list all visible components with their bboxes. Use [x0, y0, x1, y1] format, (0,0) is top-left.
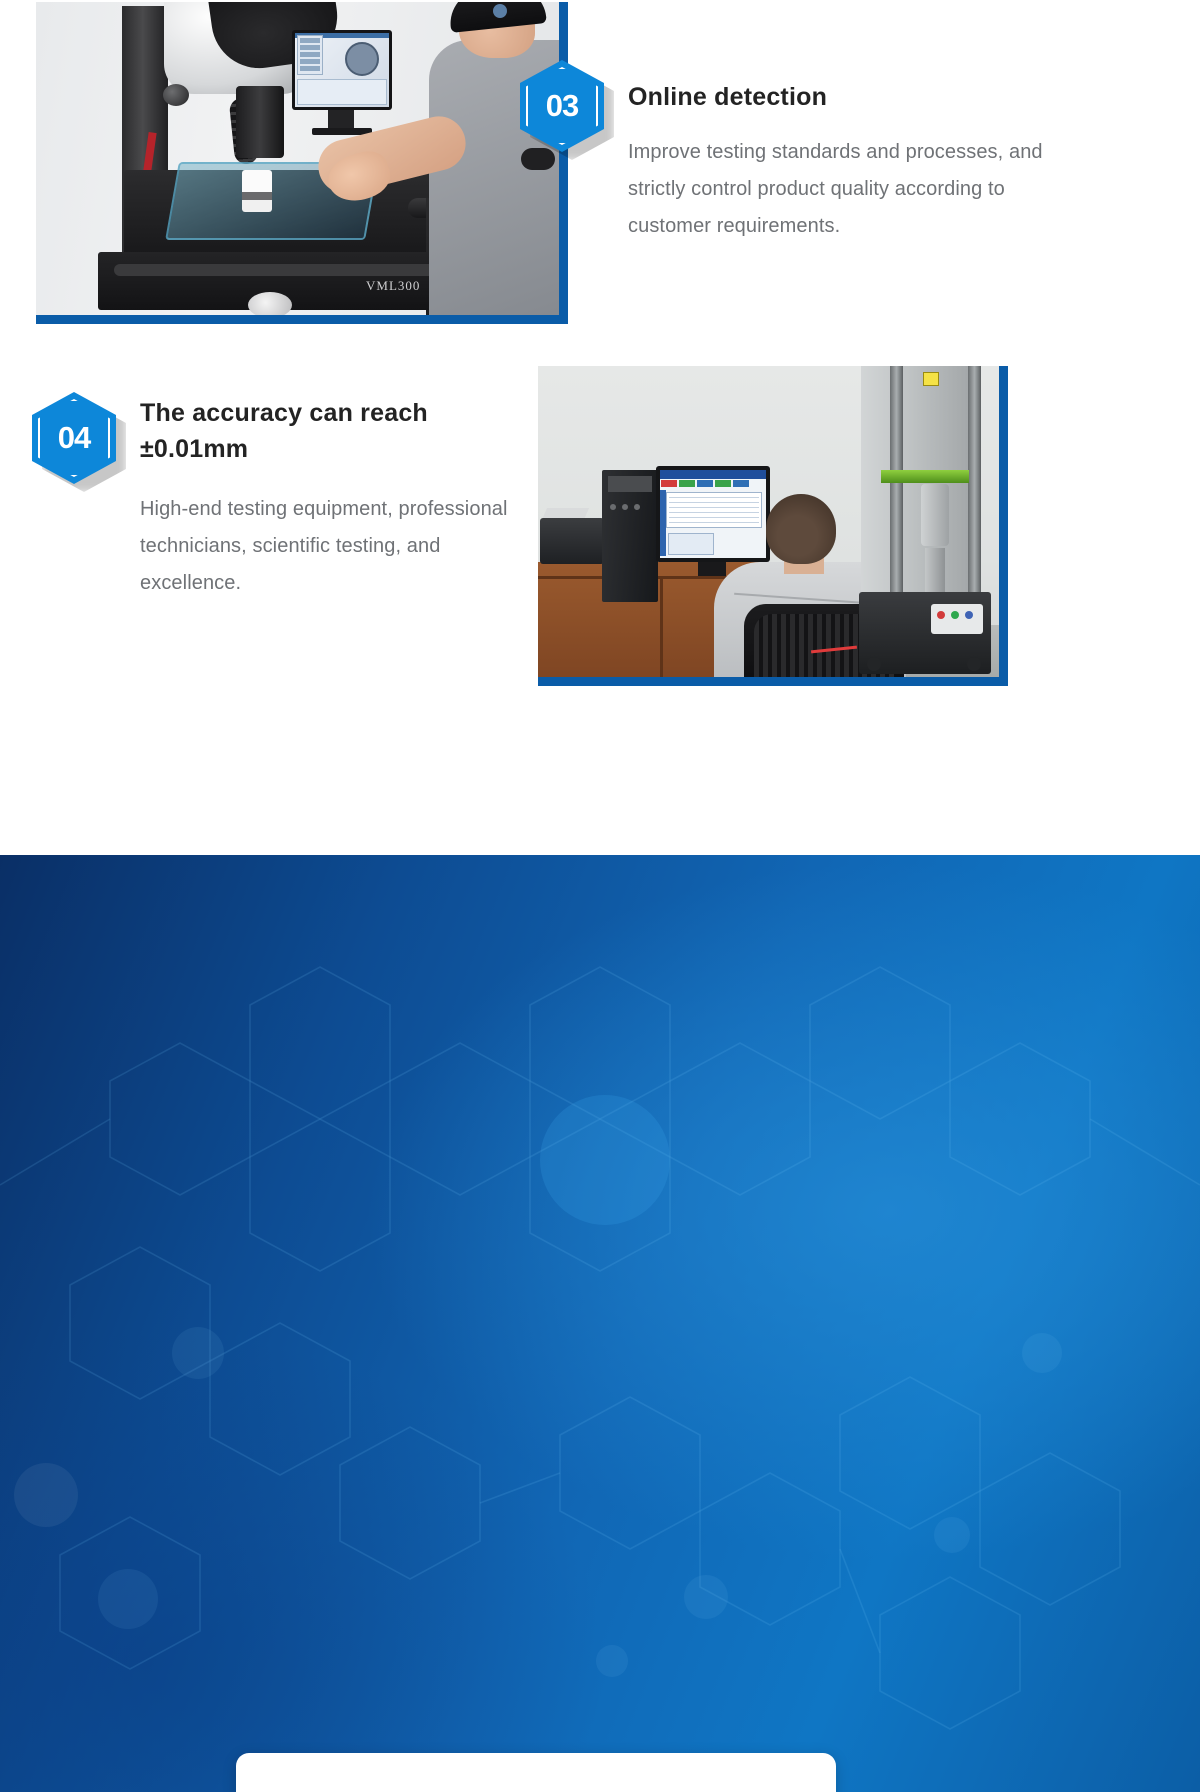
stage-handwheel: [248, 292, 292, 315]
feature-body-04: High-end testing equipment, professional…: [140, 491, 532, 602]
warning-label-icon: [923, 372, 939, 386]
cap-logo: [493, 4, 507, 18]
cabinet-door-split: [660, 578, 663, 677]
sample-part: [242, 170, 272, 212]
screen-menubar: [660, 470, 766, 479]
decorative-bubble: [540, 1095, 670, 1225]
lab-monitor-screen: [660, 470, 766, 558]
focus-knob: [163, 84, 189, 106]
marketing-page: VML300 03 Online detection Improve testi…: [0, 0, 1200, 1792]
monitor-stand: [328, 110, 354, 130]
lens-tube: [236, 86, 284, 158]
feature-text-04: The accuracy can reach ±0.01mm High-end …: [116, 392, 532, 602]
stage-rail: [114, 264, 444, 276]
screen-lower-panel: [668, 533, 714, 555]
screen-tabs: [661, 480, 749, 487]
scope-of-services-section: Scope of services 01 CNC processing of e…: [0, 855, 1200, 1792]
photo-optical-measuring-machine: VML300: [36, 2, 568, 324]
monitor-screen: [295, 33, 389, 107]
badge-number: 04: [32, 392, 116, 484]
lab-monitor-stand: [698, 562, 726, 576]
scope-title-card: Scope of services: [236, 1753, 836, 1792]
screen-measured-circle: [345, 42, 379, 76]
tensile-crosshead: [881, 470, 969, 483]
screen-results-table: [666, 492, 762, 528]
screen-toolpanel: [297, 35, 323, 75]
lab-monitor: [656, 466, 770, 562]
printer: [540, 518, 604, 564]
feature-body-03: Improve testing standards and processes,…: [628, 134, 1080, 245]
machine-model-label: VML300: [366, 278, 420, 294]
photo-tensile-testing-lab: [538, 366, 1008, 686]
tower-drive-bay: [608, 476, 652, 492]
photo-inner: [538, 366, 999, 677]
feature-text-03: Online detection Improve testing standar…: [604, 60, 1080, 245]
hexagon-badge-icon: 03: [520, 60, 604, 152]
tensile-upper-grip: [921, 484, 949, 546]
decorative-bubble: [14, 1463, 78, 1527]
top-features-section: VML300 03 Online detection Improve testi…: [0, 0, 1200, 855]
feature-block-04: 04 The accuracy can reach ±0.01mm High-e…: [32, 392, 532, 602]
feature-block-03: 03 Online detection Improve testing stan…: [520, 60, 1080, 245]
machine-monitor: [292, 30, 392, 110]
photo-inner: VML300: [36, 2, 559, 315]
screen-data-grid: [297, 79, 387, 105]
hexagon-badge-icon: 04: [32, 392, 116, 484]
hexagon-network-pattern-icon: [0, 855, 1200, 1792]
console-buttons: [931, 604, 983, 634]
badge-number: 03: [520, 60, 604, 152]
scope-title: Scope of services: [330, 1782, 741, 1792]
feature-title-03: Online detection: [628, 64, 1080, 116]
feature-title-04: The accuracy can reach ±0.01mm: [140, 396, 532, 467]
engineer-head: [766, 494, 836, 564]
